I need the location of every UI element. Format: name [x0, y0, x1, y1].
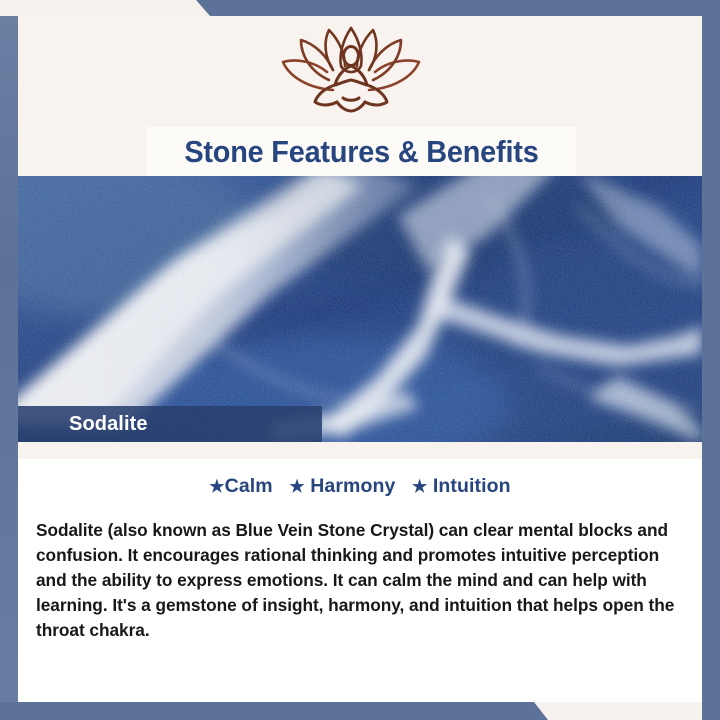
star-icon: ★	[209, 477, 224, 496]
lotus-meditation-icon	[267, 22, 435, 126]
cream-separator	[18, 442, 702, 459]
keyword-calm: Calm	[225, 475, 273, 497]
stone-name-text: Sodalite	[69, 413, 148, 436]
stone-description: Sodalite (also known as Blue Vein Stone …	[36, 518, 684, 643]
page-title: Stone Features & Benefits	[184, 134, 538, 170]
star-icon: ★	[289, 477, 304, 496]
stone-features-poster: BUDDHA STONES Stone Features & Benefits	[0, 0, 720, 720]
stone-texture	[18, 176, 702, 442]
content-card: ★Calm ★ Harmony ★ Intuition Sodalite (al…	[18, 459, 702, 702]
stone-name-label: Sodalite	[18, 406, 322, 442]
left-accent-bar	[0, 16, 18, 720]
bottom-accent-bar	[0, 702, 720, 720]
title-band: Stone Features & Benefits	[146, 127, 576, 176]
keyword-harmony: Harmony	[310, 475, 395, 497]
star-icon: ★	[412, 477, 427, 496]
right-accent-bar	[702, 0, 720, 720]
top-accent-bar	[0, 0, 720, 16]
sodalite-stone-photo	[18, 176, 702, 442]
keyword-intuition: Intuition	[433, 475, 511, 497]
benefit-keywords: ★Calm ★ Harmony ★ Intuition	[18, 475, 702, 498]
